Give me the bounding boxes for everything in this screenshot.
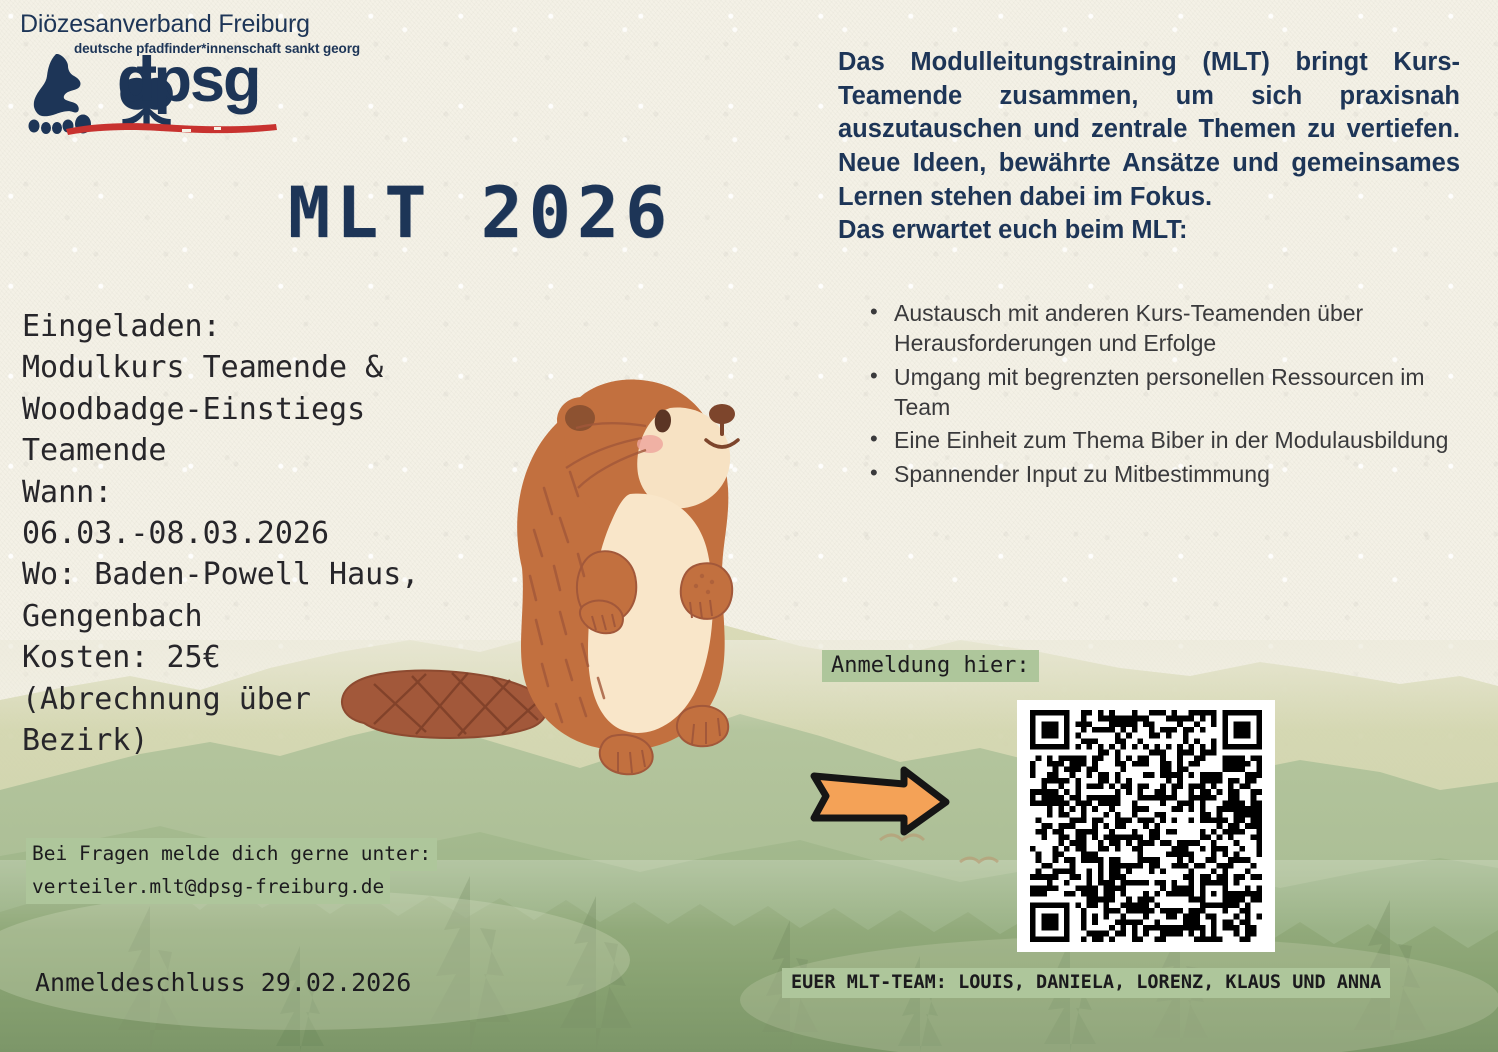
list-item: Austausch mit anderen Kurs-Teamenden übe…	[894, 298, 1454, 359]
team-banner-block: EUER MLT-TEAM: LOUIS, DANIELA, LORENZ, K…	[782, 968, 1390, 998]
registration-qr-code[interactable]	[1017, 700, 1275, 952]
info-line: Eingeladen:	[22, 306, 462, 347]
registration-label: Anmeldung hier:	[822, 650, 1039, 682]
logo-diocese-title: Diözesanverband Freiburg	[20, 10, 310, 39]
list-item: Spannender Input zu Mitbestimmung	[894, 459, 1454, 489]
list-item: Eine Einheit zum Thema Biber in der Modu…	[894, 425, 1454, 455]
dpsg-logo: Diözesanverband Freiburg deutsche pfadfi…	[12, 8, 312, 138]
contact-label: Bei Fragen melde dich gerne unter:	[26, 838, 437, 871]
poster-canvas: Diözesanverband Freiburg deutsche pfadfi…	[0, 0, 1498, 1052]
program-highlights-list: Austausch mit anderen Kurs-Teamenden übe…	[862, 298, 1454, 492]
intro-call-to-action: Das erwartet euch beim MLT:	[838, 214, 1460, 248]
registration-label-block: Anmeldung hier:	[822, 650, 1039, 682]
team-banner: EUER MLT-TEAM: LOUIS, DANIELA, LORENZ, K…	[782, 968, 1390, 998]
logo-brush-stroke-icon	[64, 120, 279, 136]
contact-email[interactable]: verteiler.mlt@dpsg-freiburg.de	[26, 871, 390, 904]
arrow-right-icon	[806, 762, 952, 838]
logo-wordmark: dpsg	[117, 49, 260, 112]
list-item: Umgang mit begrenzten personellen Ressou…	[894, 362, 1454, 423]
registration-deadline: Anmeldeschluss 29.02.2026	[35, 968, 411, 997]
beaver-illustration	[330, 368, 800, 788]
page-title: MLT 2026	[288, 172, 673, 254]
intro-paragraph-block: Das Modulleitungstraining (MLT) bringt K…	[838, 46, 1460, 248]
intro-paragraph: Das Modulleitungstraining (MLT) bringt K…	[838, 46, 1460, 214]
contact-block: Bei Fragen melde dich gerne unter: verte…	[26, 838, 446, 904]
qr-code-icon[interactable]	[1030, 710, 1262, 942]
